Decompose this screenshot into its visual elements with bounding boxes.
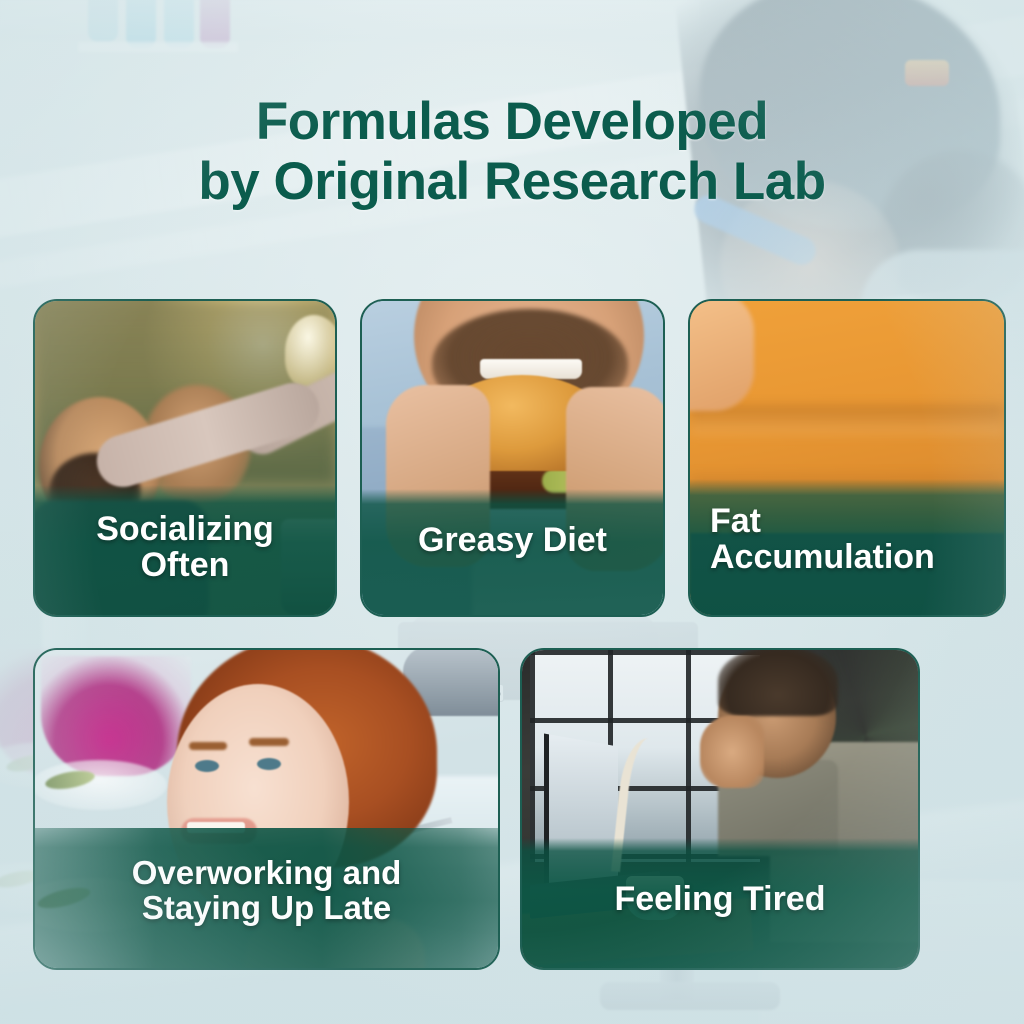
card-label-band: Socializing Often [35,485,335,615]
person-hair [718,648,838,716]
card-label-feeling-tired: Feeling Tired [536,881,904,925]
eyebrow [189,742,227,750]
page-title: Formulas Developed by Original Research … [0,92,1024,212]
eye [195,760,219,772]
card-label-fat-accumulation: Fat Accumulation [704,503,990,591]
person-hand [700,716,764,788]
card-label-band: Feeling Tired [522,838,918,968]
card-overworking[interactable]: Overworking and Staying Up Late [33,648,500,970]
card-feeling-tired[interactable]: Feeling Tired [520,648,920,970]
poster-canvas: Formulas Developed by Original Research … [0,0,1024,1024]
card-label-band: Overworking and Staying Up Late [35,828,498,968]
card-label-overworking: Overworking and Staying Up Late [49,856,484,940]
card-label-band: Greasy Diet [362,489,663,615]
body-fold [690,405,1004,435]
eyebrow [249,738,289,746]
card-label-greasy-diet: Greasy Diet [376,522,649,582]
eye [257,758,281,770]
person-arm [688,299,754,411]
card-greasy-diet[interactable]: Greasy Diet [360,299,665,617]
erlenmeyer-flask [41,656,191,776]
card-socializing-often[interactable]: Socializing Often [33,299,337,617]
card-label-socializing-often: Socializing Often [49,511,321,589]
card-label-band: Fat Accumulation [690,479,1004,615]
card-fat-accumulation[interactable]: Fat Accumulation [688,299,1006,617]
